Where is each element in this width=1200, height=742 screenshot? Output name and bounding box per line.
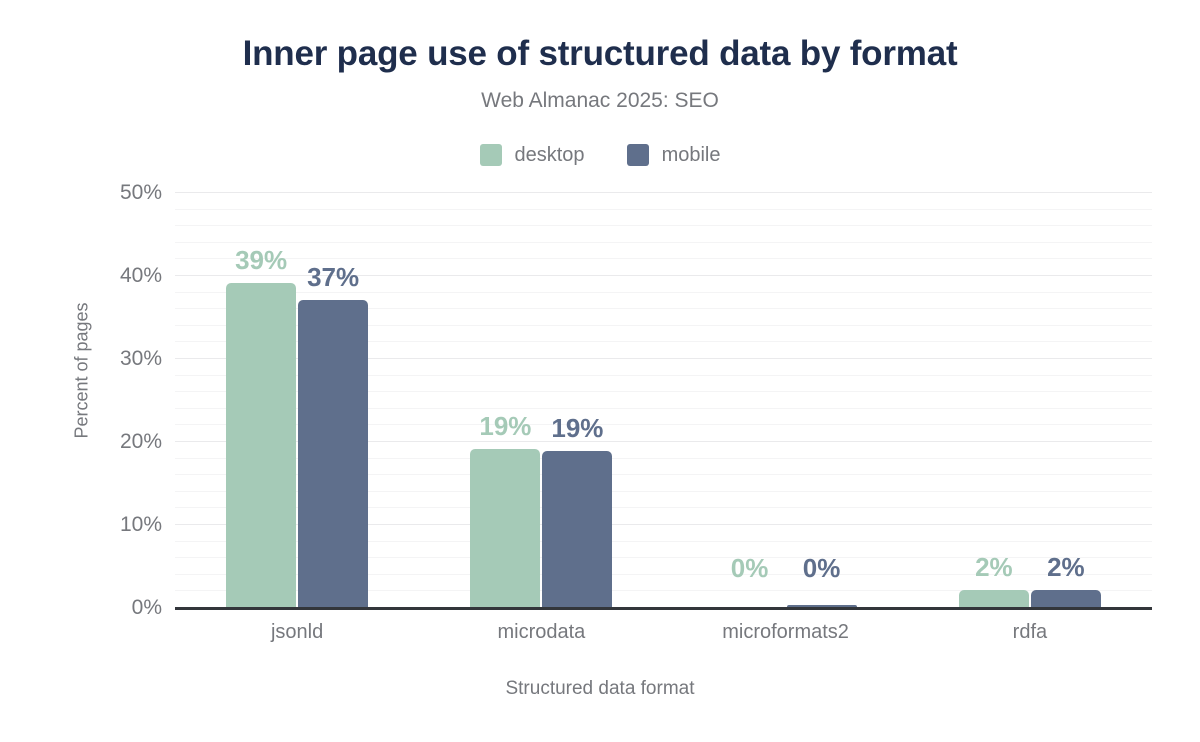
- chart-subtitle: Web Almanac 2025: SEO: [0, 87, 1200, 115]
- gridline: [175, 192, 1152, 193]
- y-tick-0%: 0%: [42, 597, 162, 618]
- legend-label-desktop: desktop: [515, 144, 585, 166]
- bar-label-microformats2-mobile: 0%: [787, 553, 857, 583]
- gridline: [175, 242, 1152, 243]
- legend-item-desktop[interactable]: desktop: [480, 144, 585, 166]
- bar-label-rdfa-desktop: 2%: [959, 552, 1029, 582]
- y-tick-10%: 10%: [42, 514, 162, 535]
- bar-jsonld-mobile[interactable]: [298, 300, 368, 607]
- bar-label-jsonld-mobile: 37%: [298, 262, 368, 292]
- bar-label-rdfa-mobile: 2%: [1031, 552, 1101, 582]
- gridline: [175, 225, 1152, 226]
- bar-chart: Inner page use of structured data by for…: [0, 0, 1200, 742]
- bar-jsonld-desktop[interactable]: [226, 283, 296, 607]
- chart-title: Inner page use of structured data by for…: [0, 32, 1200, 76]
- y-tick-30%: 30%: [42, 348, 162, 369]
- bar-microdata-mobile[interactable]: [542, 451, 612, 607]
- y-tick-50%: 50%: [42, 182, 162, 203]
- x-axis-title: Structured data format: [0, 678, 1200, 700]
- bar-label-jsonld-desktop: 39%: [226, 245, 296, 275]
- legend-label-mobile: mobile: [662, 144, 721, 166]
- bar-label-microdata-mobile: 19%: [542, 413, 612, 443]
- chart-legend: desktopmobile: [0, 140, 1200, 170]
- plot-area: 39%37%19%19%0%0%2%2%: [175, 192, 1152, 607]
- bar-rdfa-desktop[interactable]: [959, 590, 1029, 607]
- legend-item-mobile[interactable]: mobile: [627, 144, 721, 166]
- gridline: [175, 258, 1152, 259]
- bar-rdfa-mobile[interactable]: [1031, 590, 1101, 607]
- x-axis-line: [175, 607, 1152, 610]
- legend-swatch-mobile: [627, 144, 649, 166]
- bar-microdata-desktop[interactable]: [470, 449, 540, 607]
- y-tick-20%: 20%: [42, 431, 162, 452]
- gridline: [175, 209, 1152, 210]
- legend-swatch-desktop: [480, 144, 502, 166]
- x-tick-rdfa: rdfa: [880, 619, 1180, 645]
- bar-label-microformats2-desktop: 0%: [715, 553, 785, 583]
- bar-label-microdata-desktop: 19%: [470, 411, 540, 441]
- y-tick-40%: 40%: [42, 265, 162, 286]
